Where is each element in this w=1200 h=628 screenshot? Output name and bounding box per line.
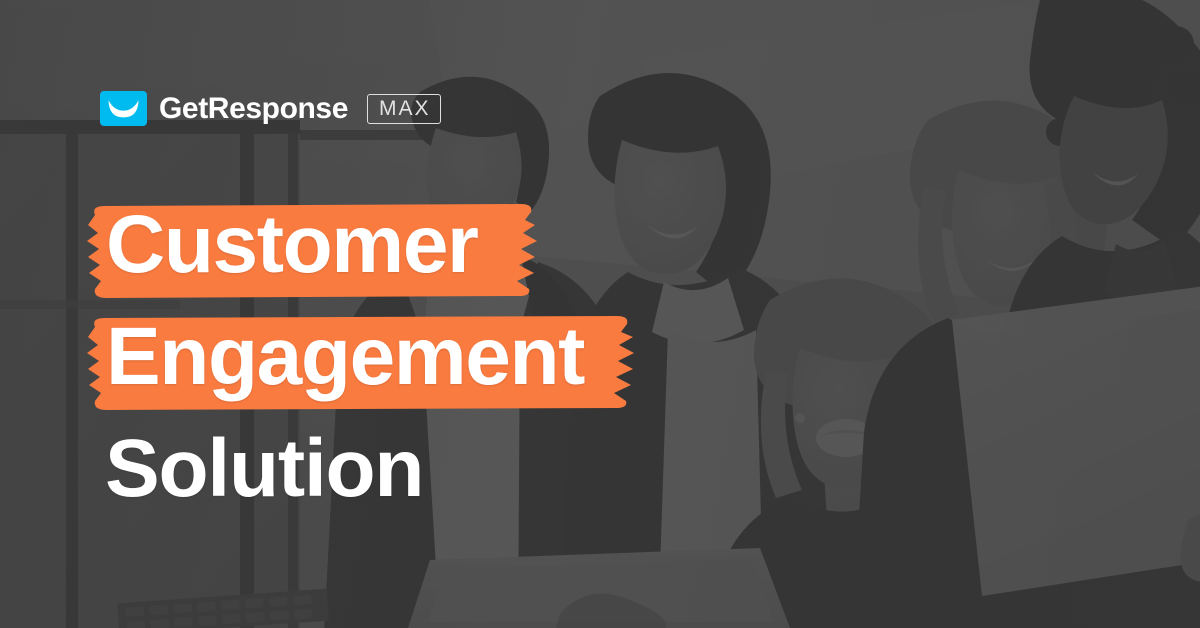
headline-line-1: Customer xyxy=(85,196,584,308)
headline-text-3: Solution xyxy=(85,420,584,518)
headline-line-2: Engagement xyxy=(85,308,584,420)
headline-block: Customer Engagement Solution xyxy=(85,196,584,520)
brand-wordmark: GetResponse xyxy=(159,94,348,124)
headline-text-2: Engagement xyxy=(85,308,584,406)
edition-badge: MAX xyxy=(367,94,441,124)
headline-text-1: Customer xyxy=(85,196,584,294)
headline-line-3: Solution xyxy=(85,420,584,520)
brand-logo[interactable]: GetResponse MAX xyxy=(100,91,441,126)
getresponse-envelope-smile-icon xyxy=(100,91,147,126)
marketing-banner: GetResponse MAX Customer Engagement Solu… xyxy=(0,0,1200,628)
